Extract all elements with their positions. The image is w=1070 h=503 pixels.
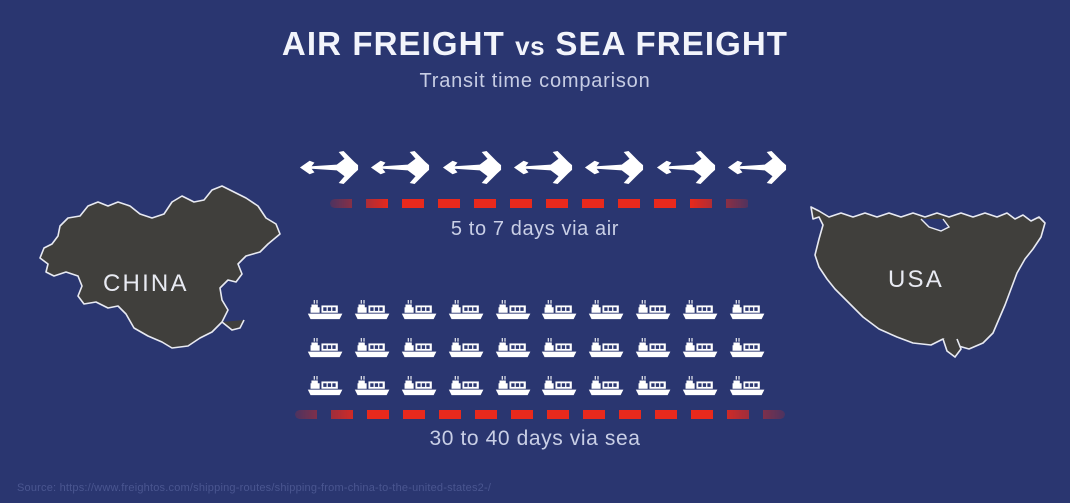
header: AIR FREIGHT vs SEA FREIGHT Transit time … bbox=[0, 26, 1070, 93]
cargo-ship-icon bbox=[681, 298, 721, 322]
cargo-ship-icon bbox=[494, 374, 534, 398]
sea-transit-caption: 30 to 40 days via sea bbox=[0, 427, 1070, 451]
airplane-icon bbox=[655, 150, 717, 185]
cargo-ship-icon bbox=[353, 336, 393, 360]
cargo-ship-icon bbox=[587, 336, 627, 360]
air-route-dashed-line bbox=[330, 199, 750, 208]
cargo-ship-icon bbox=[634, 298, 674, 322]
cargo-ship-icon bbox=[306, 336, 346, 360]
cargo-ship-icon bbox=[681, 336, 721, 360]
cargo-ship-icon bbox=[306, 298, 346, 322]
cargo-ship-icon bbox=[587, 374, 627, 398]
cargo-ship-icon bbox=[353, 374, 393, 398]
cargo-ship-icon bbox=[587, 298, 627, 322]
cargo-ship-icon bbox=[447, 336, 487, 360]
page-subtitle: Transit time comparison bbox=[0, 70, 1070, 93]
cargo-ship-icon-grid bbox=[306, 291, 768, 405]
airplane-icon bbox=[726, 150, 788, 185]
cargo-ship-icon bbox=[400, 336, 440, 360]
title-sea-freight: SEA FREIGHT bbox=[555, 25, 788, 62]
cargo-ship-icon bbox=[447, 298, 487, 322]
cargo-ship-icon bbox=[540, 336, 580, 360]
cargo-ship-icon bbox=[494, 336, 534, 360]
cargo-ship-icon-row bbox=[306, 291, 768, 329]
cargo-ship-icon bbox=[494, 298, 534, 322]
air-transit-caption: 5 to 7 days via air bbox=[0, 218, 1070, 241]
usa-map-label: USA bbox=[888, 266, 944, 294]
page-title: AIR FREIGHT vs SEA FREIGHT bbox=[0, 26, 1070, 62]
cargo-ship-icon-row bbox=[306, 329, 768, 367]
cargo-ship-icon bbox=[540, 298, 580, 322]
cargo-ship-icon bbox=[353, 298, 393, 322]
infographic-canvas: AIR FREIGHT vs SEA FREIGHT Transit time … bbox=[0, 0, 1070, 503]
cargo-ship-icon bbox=[681, 374, 721, 398]
cargo-ship-icon bbox=[728, 374, 768, 398]
title-vs: vs bbox=[515, 31, 545, 61]
airplane-icon bbox=[298, 150, 360, 185]
cargo-ship-icon bbox=[540, 374, 580, 398]
airplane-icon bbox=[369, 150, 431, 185]
source-citation[interactable]: Source: https://www.freightos.com/shippi… bbox=[17, 482, 491, 494]
cargo-ship-icon bbox=[634, 374, 674, 398]
cargo-ship-icon bbox=[447, 374, 487, 398]
cargo-ship-icon-row bbox=[306, 367, 768, 405]
title-air-freight: AIR FREIGHT bbox=[282, 25, 505, 62]
airplane-icon bbox=[583, 150, 645, 185]
airplane-icon bbox=[441, 150, 503, 185]
airplane-icon-row bbox=[298, 150, 788, 185]
china-map-icon bbox=[22, 172, 302, 362]
cargo-ship-icon bbox=[400, 298, 440, 322]
sea-route-dashed-line bbox=[295, 410, 785, 419]
cargo-ship-icon bbox=[634, 336, 674, 360]
china-map-label: CHINA bbox=[103, 270, 189, 298]
cargo-ship-icon bbox=[306, 374, 346, 398]
cargo-ship-icon bbox=[728, 336, 768, 360]
cargo-ship-icon bbox=[400, 374, 440, 398]
cargo-ship-icon bbox=[728, 298, 768, 322]
airplane-icon bbox=[512, 150, 574, 185]
